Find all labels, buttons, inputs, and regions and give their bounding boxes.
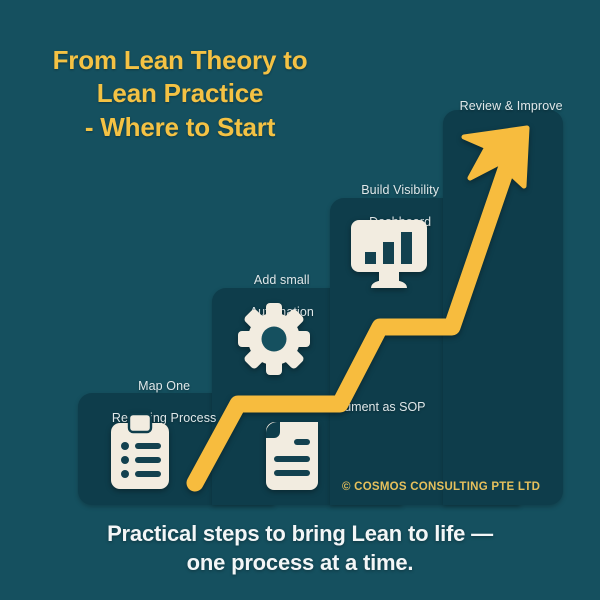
caption-line-1: Practical steps to bring Lean to life — — [0, 519, 600, 548]
copyright-notice: © COSMOS CONSULTING PTE LTD — [342, 481, 540, 493]
caption: Practical steps to bring Lean to life — … — [0, 519, 600, 578]
infographic-canvas: From Lean Theory to Lean Practice - Wher… — [0, 0, 600, 600]
growth-arrow-icon — [0, 0, 600, 600]
caption-line-2: one process at a time. — [0, 548, 600, 577]
